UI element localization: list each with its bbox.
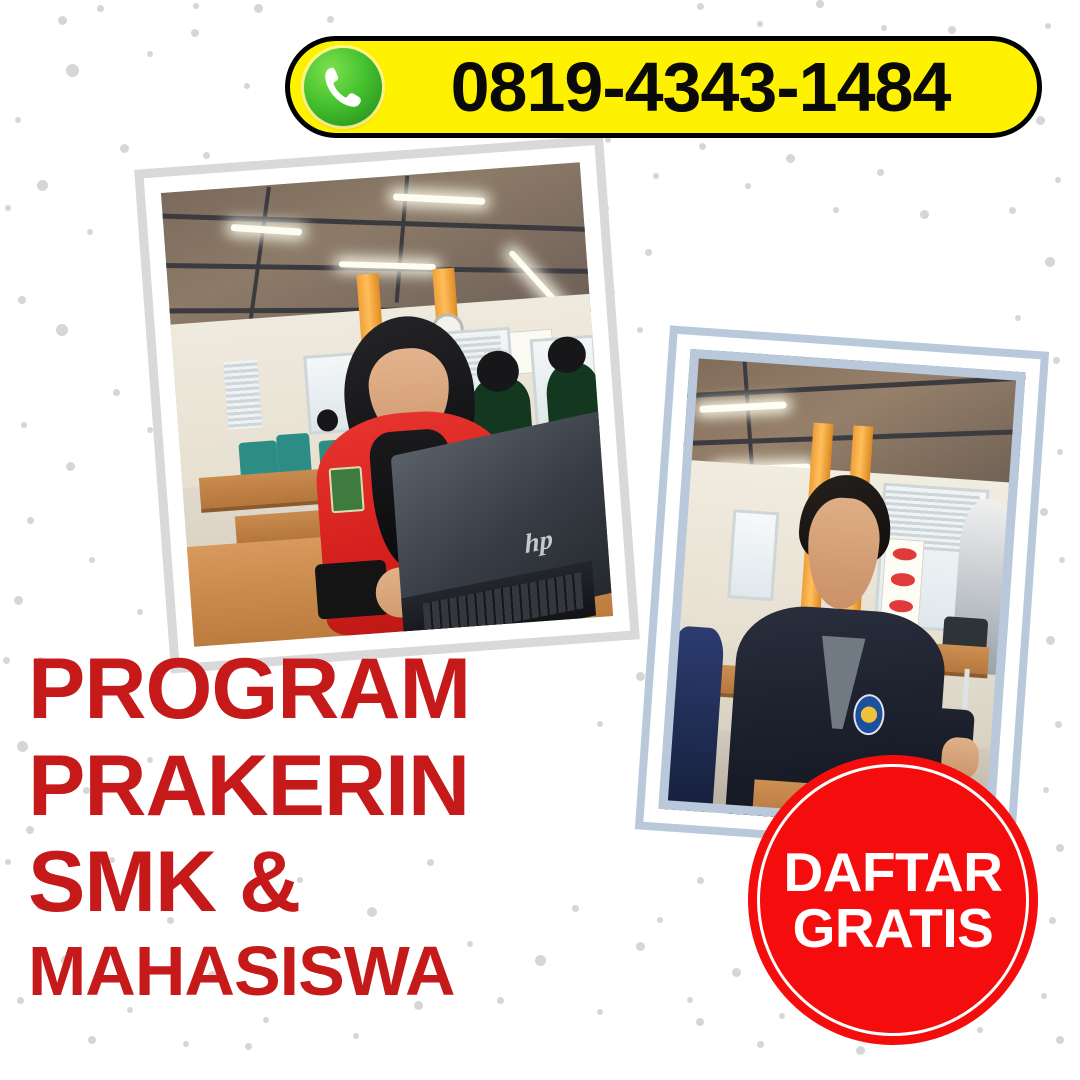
background-dot <box>254 4 263 13</box>
background-dot <box>645 249 652 256</box>
background-dot <box>535 955 546 966</box>
background-dot <box>18 296 26 304</box>
background-dot <box>572 905 579 912</box>
background-dot <box>1040 508 1048 516</box>
photo-inner-frame: hp <box>144 145 630 664</box>
background-dot <box>353 1033 359 1039</box>
badge-line-2: GRATIS <box>793 900 994 956</box>
headline-line-3: SMK & <box>28 841 470 924</box>
background-dot <box>5 859 11 865</box>
background-dot <box>637 327 643 333</box>
background-dot <box>1055 177 1061 183</box>
background-dot <box>1015 315 1021 321</box>
poster-canvas: hp <box>0 0 1080 1080</box>
background-dot <box>1049 917 1056 924</box>
background-dot <box>1056 1036 1064 1044</box>
background-dot <box>27 517 34 524</box>
headline-line-2: PRAKERIN <box>28 745 470 828</box>
background-dot <box>1056 844 1064 852</box>
background-dot <box>56 324 68 336</box>
background-dot <box>881 25 887 31</box>
background-dot <box>66 64 79 77</box>
background-dot <box>327 16 334 23</box>
background-dot <box>732 968 741 977</box>
background-dot <box>137 609 143 615</box>
background-dot <box>697 3 704 10</box>
background-dot <box>636 942 645 951</box>
background-dot <box>17 741 28 752</box>
headline-line-4: MAHASISWA <box>28 938 470 1005</box>
background-dot <box>697 877 704 884</box>
background-dot <box>21 422 27 428</box>
background-dot <box>193 3 199 9</box>
background-dot <box>203 152 210 159</box>
background-dot <box>1055 721 1062 728</box>
background-dot <box>97 5 104 12</box>
background-dot <box>37 180 48 191</box>
background-dot <box>1043 787 1049 793</box>
background-dot <box>833 207 839 213</box>
background-dot <box>687 997 693 1003</box>
background-dot <box>17 997 24 1004</box>
background-dot <box>1045 23 1051 29</box>
photo-image-girl: hp <box>161 162 613 647</box>
background-dot <box>183 1041 189 1047</box>
background-dot <box>1046 636 1055 645</box>
background-dot <box>89 557 95 563</box>
background-dot <box>1009 207 1016 214</box>
background-dot <box>597 721 603 727</box>
background-dot <box>948 26 956 34</box>
background-dot <box>597 1009 603 1015</box>
background-dot <box>245 1043 252 1050</box>
background-dot <box>757 1041 764 1048</box>
background-dot <box>856 1046 865 1055</box>
background-dot <box>1057 449 1063 455</box>
phone-number-text: 0819-4343-1484 <box>382 52 1037 122</box>
background-dot <box>244 83 250 89</box>
background-dot <box>786 154 795 163</box>
background-dot <box>15 117 21 123</box>
background-dot <box>87 229 93 235</box>
background-dot <box>1053 357 1060 364</box>
background-dot <box>779 1013 785 1019</box>
background-dot <box>497 997 504 1004</box>
background-dot <box>745 183 751 189</box>
background-dot <box>696 1018 704 1026</box>
background-dot <box>14 596 23 605</box>
background-dot <box>920 210 929 219</box>
background-dot <box>653 173 659 179</box>
background-dot <box>147 51 153 57</box>
background-dot <box>58 16 67 25</box>
background-dot <box>1045 257 1055 267</box>
background-dot <box>757 21 763 27</box>
background-dot <box>191 29 199 37</box>
headline-block: PROGRAM PRAKERIN SMK & MAHASISWA <box>28 648 470 1005</box>
badge-line-1: DAFTAR <box>784 844 1003 900</box>
background-dot <box>657 917 663 923</box>
background-dot <box>816 0 824 8</box>
background-dot <box>977 1027 983 1033</box>
background-dot <box>1041 993 1047 999</box>
background-dot <box>113 389 120 396</box>
background-dot <box>1059 557 1065 563</box>
background-dot <box>5 205 11 211</box>
background-dot <box>699 143 706 150</box>
background-dot <box>263 1017 269 1023</box>
background-dot <box>3 657 10 664</box>
background-dot <box>636 672 645 681</box>
background-dot <box>66 462 75 471</box>
photo-image-boy <box>658 349 1025 832</box>
photo-student-girl-laptop: hp <box>134 135 640 673</box>
background-dot <box>877 169 884 176</box>
background-dot <box>88 1036 96 1044</box>
background-dot <box>120 144 129 153</box>
phone-contact-banner[interactable]: 0819-4343-1484 <box>285 36 1042 138</box>
daftar-gratis-badge[interactable]: DAFTAR GRATIS <box>748 755 1038 1045</box>
phone-handset-icon <box>304 48 382 126</box>
headline-line-1: PROGRAM <box>28 648 470 731</box>
